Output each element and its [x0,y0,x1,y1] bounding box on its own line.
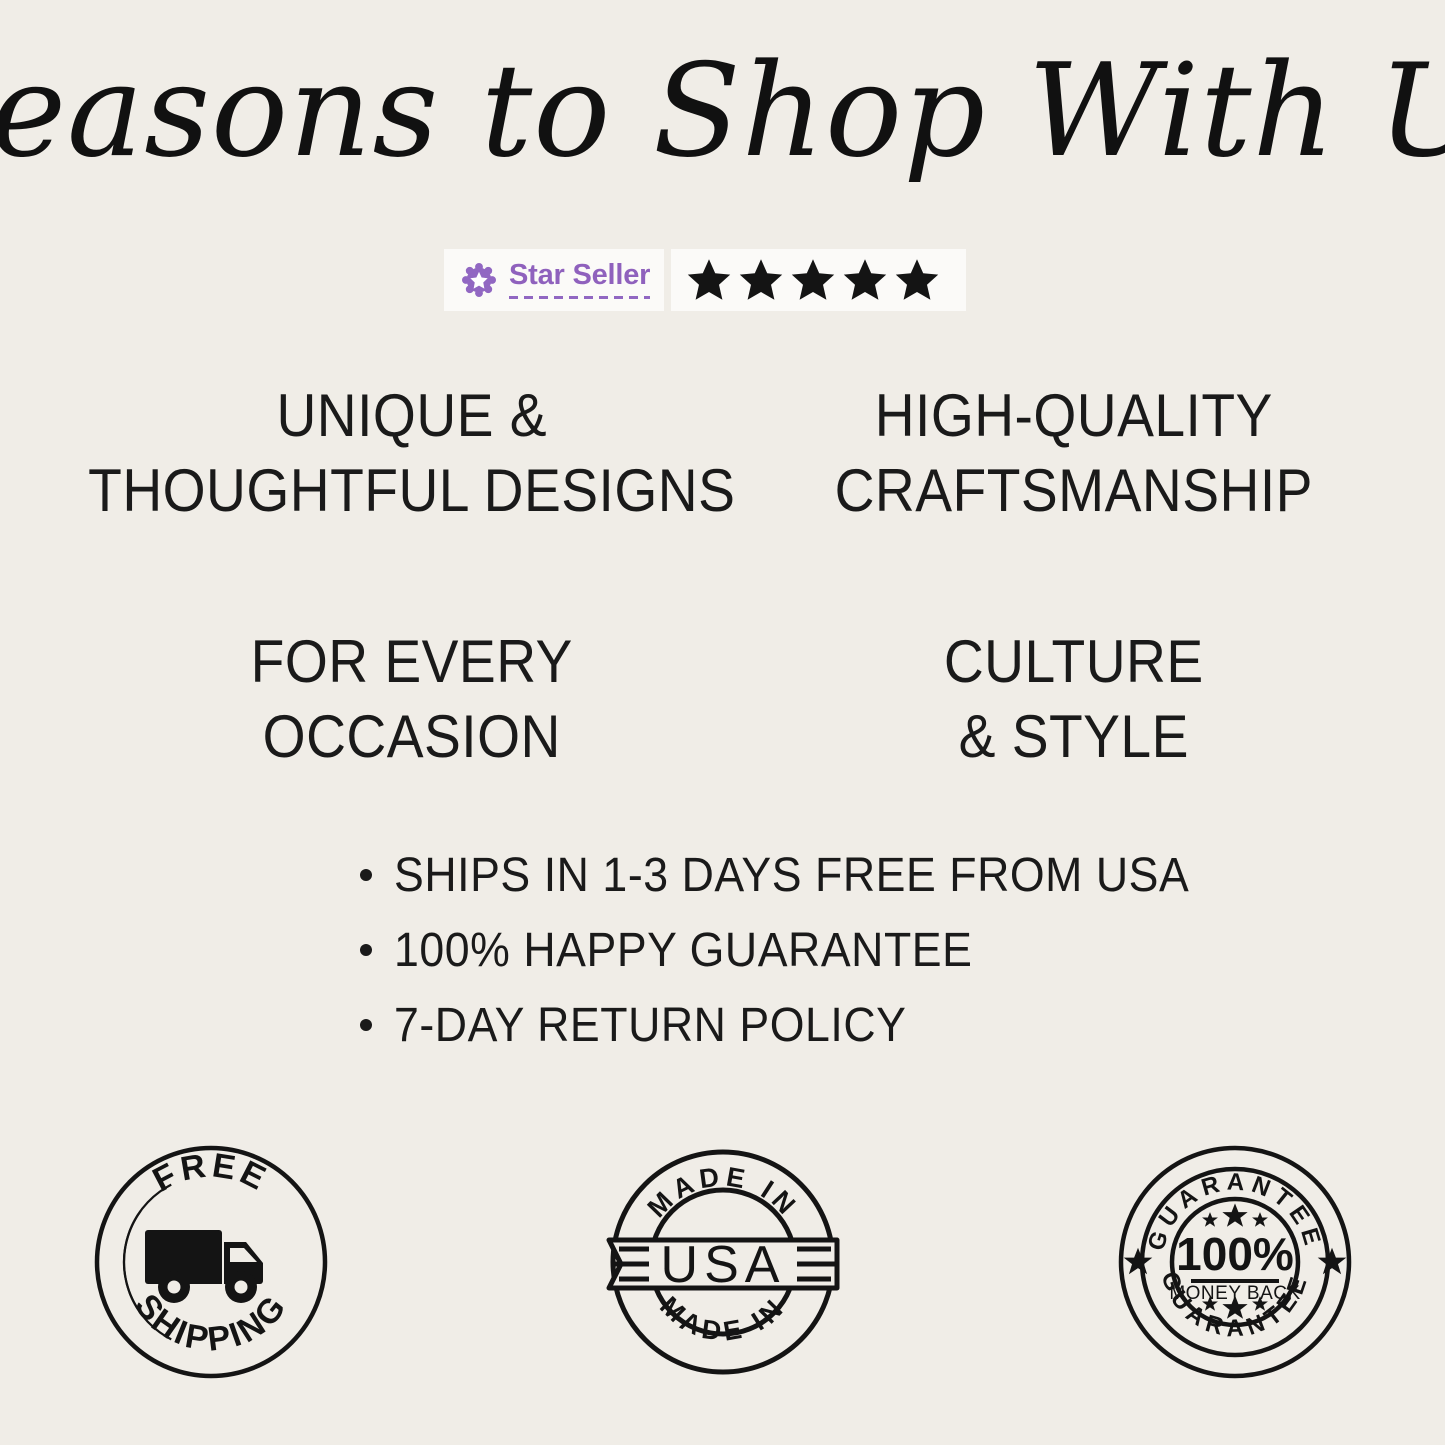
star-icon [737,256,785,304]
badge-bottom-text: SHIPPING [127,1287,295,1359]
feature-line: CRAFTSMANSHIP [788,453,1360,528]
money-back-label: MONEY BACK [1169,1283,1300,1304]
page-title: Reasons to Shop With Us [0,28,1445,208]
ribbon-text: USA [660,1236,785,1294]
bullet-dot-icon [360,1019,372,1031]
star-seller-badge: Star Seller [444,249,966,311]
badge-top-text: FREE [146,1146,274,1199]
free-shipping-badge: FREE SHIPPING [91,1142,331,1392]
feature-unique-thoughtful-designs: UNIQUE & THOUGHTFUL DESIGNS [88,378,735,528]
list-item: SHIPS IN 1-3 DAYS FREE FROM USA [360,848,1260,903]
delivery-truck-icon [145,1230,263,1303]
star-rosette-icon [462,263,496,297]
title-label: Reasons to Shop With Us [0,37,1445,186]
star-seller-divider [664,249,671,311]
feature-grid: UNIQUE & THOUGHTFUL DESIGNS HIGH-QUALITY… [60,378,1385,774]
trust-badge-row: FREE SHIPPING [0,1132,1445,1402]
star-icon [893,256,941,304]
promo-graphic: Reasons to Shop With Us S [0,0,1445,1445]
title-script-text: Reasons to Shop With Us [108,33,1338,203]
list-item-label: 7-DAY RETURN POLICY [394,998,907,1053]
list-item-label: SHIPS IN 1-3 DAYS FREE FROM USA [394,848,1189,903]
bullet-dot-icon [360,869,372,881]
rating-stars [671,256,941,304]
list-item: 100% HAPPY GUARANTEE [360,923,1260,978]
feature-high-quality-craftsmanship: HIGH-QUALITY CRAFTSMANSHIP [788,378,1360,528]
feature-line: CULTURE [788,624,1360,699]
percent-label: 100% [1176,1228,1294,1280]
star-icon [841,256,889,304]
feature-line: & STYLE [788,699,1360,774]
feature-line: UNIQUE & [88,378,735,453]
money-back-guarantee-badge: GUARANTEE GUARANTEE 100% MONEY B [1115,1142,1355,1392]
feature-for-every-occasion: FOR EVERY OCCASION [88,624,735,774]
policy-list: SHIPS IN 1-3 DAYS FREE FROM USA 100% HAP… [360,848,1260,1073]
star-seller-underline [509,296,650,299]
star-seller-left: Star Seller [444,249,664,311]
feature-line: OCCASION [88,699,735,774]
made-in-usa-badge: MADE IN MADE IN USA [603,1142,843,1392]
usa-ribbon: USA [609,1236,837,1294]
star-icon [685,256,733,304]
feature-culture-and-style: CULTURE & STYLE [788,624,1360,774]
feature-line: HIGH-QUALITY [788,378,1360,453]
feature-line: THOUGHTFUL DESIGNS [88,453,735,528]
star-seller-label-group: Star Seller [509,261,650,300]
badge-bottom-text: MADE IN [654,1291,792,1347]
list-item: 7-DAY RETURN POLICY [360,998,1260,1053]
star-seller-label: Star Seller [509,261,650,291]
list-item-label: 100% HAPPY GUARANTEE [394,923,972,978]
bullet-dot-icon [360,944,372,956]
feature-line: FOR EVERY [88,624,735,699]
star-icon [789,256,837,304]
